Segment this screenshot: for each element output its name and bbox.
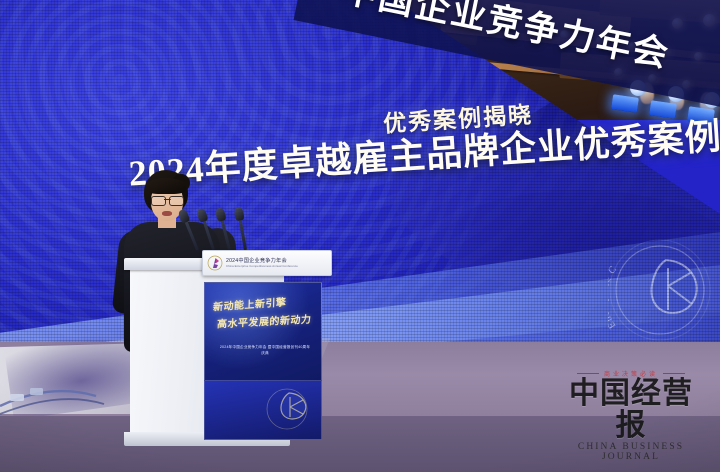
conference-logo-icon bbox=[207, 255, 223, 271]
conference-photo: Enterprise C 中国企业竞争力年会 优秀案例揭晓 2024年度卓越雇主… bbox=[0, 0, 720, 472]
speaker-mouth bbox=[162, 211, 172, 216]
calligraphy-line-2: 高水平发展的新动力 bbox=[217, 310, 314, 330]
glasses-lens-right bbox=[169, 196, 184, 206]
podium: 2024中国企业竞争力年会 China Enterprise Competiti… bbox=[124, 258, 290, 448]
speaker-fringe bbox=[146, 178, 186, 194]
podium-lower-panel bbox=[204, 380, 322, 440]
watermark-name-cn: 中国经营报 bbox=[556, 378, 706, 441]
nameplate-subtitle: China Enterprise Competitiveness Annual … bbox=[226, 264, 298, 268]
watermark-rule-left bbox=[577, 373, 599, 374]
glasses-icon bbox=[151, 196, 184, 204]
podium-front-panel: 新动能上新引擎 高水平发展的新动力 2024年中国企业竞争力年会 暨中国经营报创… bbox=[204, 282, 322, 382]
podium-panel-subtitle: 2024年中国企业竞争力年会 暨中国经营报创刊40周年庆典 bbox=[219, 345, 311, 357]
podium-nameplate: 2024中国企业竞争力年会 China Enterprise Competiti… bbox=[202, 250, 332, 276]
newspaper-watermark: 商业决策必读 中国经营报 CHINA BUSINESS JOURNAL bbox=[556, 369, 706, 462]
podium-calligraphy: 新动能上新引擎 高水平发展的新动力 bbox=[213, 295, 313, 328]
glasses-lens-left bbox=[151, 196, 166, 206]
podium-enterprise-logo-icon bbox=[259, 387, 315, 431]
watermark-rule-right bbox=[663, 373, 685, 374]
enterprise-logo-text: Enterprise C bbox=[608, 264, 620, 331]
enterprise-circle-logo-icon: Enterprise C bbox=[608, 238, 712, 342]
watermark-name-en: CHINA BUSINESS JOURNAL bbox=[556, 442, 706, 462]
svg-text:Enterprise C: Enterprise C bbox=[608, 264, 620, 331]
